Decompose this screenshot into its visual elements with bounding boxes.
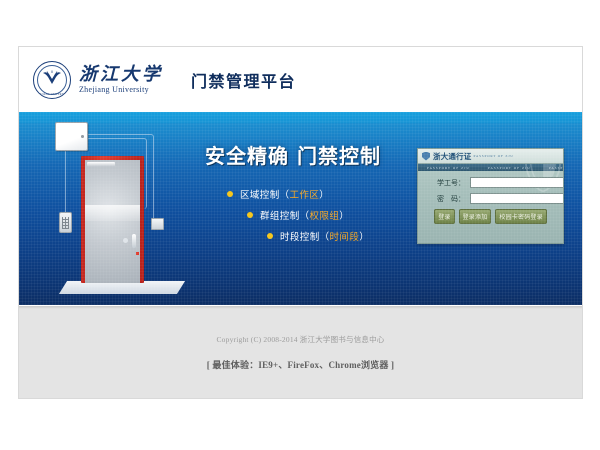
university-name-en: Zhejiang University <box>79 85 163 94</box>
ticker-text: PASSPORT OF ZJU <box>418 166 479 170</box>
feature-item-timeslot: 时段控制（时间段） <box>205 229 420 243</box>
feature-highlight: 工作区 <box>290 187 320 201</box>
banner-slogan: 安全精确 门禁控制 <box>205 140 420 169</box>
field-row-username: 学工号： <box>425 177 556 188</box>
footer-shadow <box>19 306 582 309</box>
site-shell: ZHEJIANG UNIVERSITY 浙江大学 Zhejiang Univer… <box>18 46 583 399</box>
bullet-icon <box>247 212 253 218</box>
feature-tail: ） <box>319 187 329 201</box>
ticker-text: PASSPORT OF ZJU <box>540 166 563 170</box>
door-knob-icon <box>123 238 128 243</box>
seal-ring-text: ZHEJIANG UNIVERSITY <box>34 93 70 96</box>
university-wordmark: 浙江大学 Zhejiang University <box>79 65 163 94</box>
feature-highlight: 时间段 <box>330 229 360 243</box>
bullet-icon <box>267 233 273 239</box>
hero-banner: 安全精确 门禁控制 区域控制（工作区） 群组控制（权限组） 时段控制（时间段） <box>19 112 582 305</box>
ticker-text: PASSPORT OF ZJU <box>479 166 540 170</box>
door-access-control-illustration <box>41 120 186 300</box>
feature-label: 时段控制（ <box>280 229 330 243</box>
feature-item-area: 区域控制（工作区） <box>205 187 420 201</box>
login-panel-header: 浙大通行证 PASSPORT OF ZJU <box>418 149 563 164</box>
login-panel: 🛡 浙大通行证 PASSPORT OF ZJU PASSPORT OF ZJU … <box>417 148 564 244</box>
controller-box-icon <box>55 122 88 151</box>
door-frame <box>81 156 144 283</box>
login-add-button[interactable]: 登录添加 <box>459 209 492 224</box>
university-seal-icon: ZHEJIANG UNIVERSITY <box>33 61 71 99</box>
username-input[interactable] <box>470 177 564 188</box>
page-root: ZHEJIANG UNIVERSITY 浙江大学 Zhejiang Univer… <box>0 0 600 450</box>
site-footer: Copyright (C) 2008-2014 浙江大学图书与信息中心 [ 最佳… <box>19 305 582 399</box>
page-title: 门禁管理平台 <box>191 68 296 92</box>
feature-label: 区域控制（ <box>240 187 290 201</box>
university-name-cn: 浙江大学 <box>79 65 163 83</box>
site-header: ZHEJIANG UNIVERSITY 浙江大学 Zhejiang Univer… <box>19 47 582 112</box>
field-row-password: 密 码： <box>425 193 556 204</box>
door-closer-icon <box>87 162 115 167</box>
login-panel-title-en: PASSPORT OF ZJU <box>474 154 514 158</box>
login-panel-title-cn: 浙大通行证 <box>433 151 472 162</box>
door-handle-icon <box>132 234 136 248</box>
door-led-icon <box>136 252 139 255</box>
feature-label: 群组控制（ <box>260 208 310 222</box>
door-panel <box>85 160 140 283</box>
login-form: 学工号： 密 码： 登录 登录添加 校园卡密码登录 <box>418 171 563 224</box>
password-input[interactable] <box>470 193 564 204</box>
card-reader-icon <box>151 218 164 230</box>
campus-card-login-button[interactable]: 校园卡密码登录 <box>495 209 546 224</box>
password-label: 密 码： <box>425 194 465 204</box>
keypad-reader-icon <box>59 212 72 233</box>
login-button[interactable]: 登录 <box>434 209 454 224</box>
feature-tail: ） <box>339 208 349 222</box>
shield-icon <box>422 152 430 161</box>
login-button-row: 登录 登录添加 校园卡密码登录 <box>425 209 556 224</box>
username-label: 学工号： <box>425 178 465 188</box>
browser-recommendation-text: [ 最佳体验：IE9+、FireFox、Chrome浏览器 ] <box>207 358 394 371</box>
feature-item-group: 群组控制（权限组） <box>205 208 420 222</box>
slogan-block: 安全精确 门禁控制 区域控制（工作区） 群组控制（权限组） 时段控制（时间段） <box>205 140 420 259</box>
feature-highlight: 权限组 <box>310 208 340 222</box>
wire-icon <box>65 149 67 213</box>
feature-list: 区域控制（工作区） 群组控制（权限组） 时段控制（时间段） <box>205 187 420 243</box>
feature-tail: ） <box>359 229 369 243</box>
login-panel-ticker: PASSPORT OF ZJU PASSPORT OF ZJU PASSPORT… <box>418 164 563 171</box>
bullet-icon <box>227 191 233 197</box>
copyright-text: Copyright (C) 2008-2014 浙江大学图书与信息中心 <box>216 334 384 345</box>
